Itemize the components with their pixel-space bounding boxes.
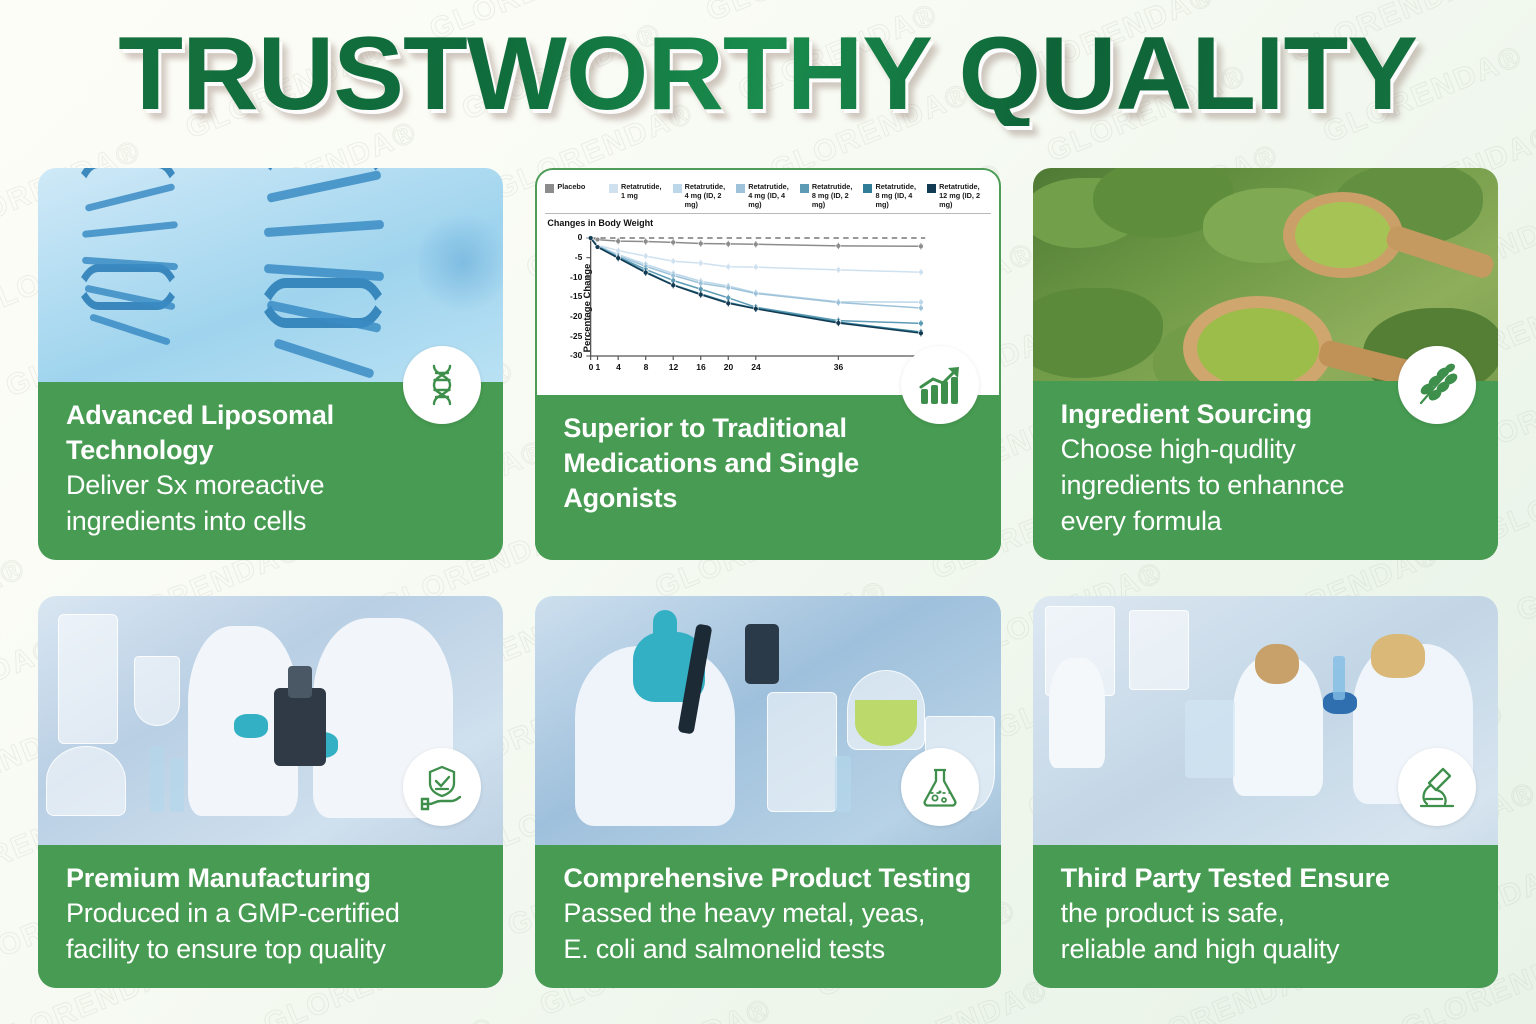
card-caption: Third Party Tested Ensure the product is… (1033, 845, 1498, 988)
chart-legend-label: Retatrutide, 8 mg (ID, 4 mg) (875, 182, 927, 209)
card-caption: Comprehensive Product Testing Passed the… (535, 845, 1000, 988)
card-body: Produced in a GMP-certified facility to … (66, 896, 479, 968)
chart-legend-swatch (545, 184, 554, 193)
watermark-text: GLORENDA® (1143, 990, 1419, 1024)
leaf-branch-icon (1413, 361, 1461, 409)
leaf-branch-icon-badge (1398, 346, 1476, 424)
chart-x-tick: 4 (610, 362, 626, 372)
chart-legend-label: Placebo (557, 182, 585, 209)
chart-legend-item: Retatrutide, 1 mg (609, 182, 673, 209)
watermark-text: GLORENDA® (0, 348, 24, 526)
chart-y-tick: -20 (560, 311, 582, 321)
feature-card-advanced-liposomal-technology[interactable]: Advanced Liposomal Technology Deliver Sx… (38, 168, 503, 560)
watermark-text: GLORENDA® (6, 986, 282, 1024)
watermark-text: GLORENDA® (1503, 474, 1536, 652)
chart-x-tick: 36 (830, 362, 846, 372)
chart-legend-item: Placebo (545, 182, 609, 209)
chart-legend-swatch (800, 184, 809, 193)
chart-y-tick: -30 (560, 350, 582, 360)
page-header: TRUSTWORTHY QUALITY (0, 22, 1536, 126)
chart-legend-item: Retatrutide, 4 mg (ID, 2 mg) (673, 182, 737, 209)
hand-shield-check-icon (418, 763, 466, 811)
card-title: Third Party Tested Ensure (1061, 861, 1474, 896)
chart-y-tick: -15 (560, 291, 582, 301)
card-title: Superior to Traditional Medications and … (563, 411, 976, 516)
flask-icon (916, 763, 964, 811)
growth-chart-icon (916, 361, 964, 409)
chart-x-tick: 1 (590, 362, 606, 372)
card-body: Deliver Sx moreactive ingredients into c… (66, 468, 479, 540)
chart-legend-swatch (609, 184, 618, 193)
microscope-icon-badge (1398, 748, 1476, 826)
feature-card-third-party-tested[interactable]: Third Party Tested Ensure the product is… (1033, 596, 1498, 988)
card-title: Premium Manufacturing (66, 861, 479, 896)
flask-icon-badge (901, 748, 979, 826)
chart-y-tick: -5 (560, 252, 582, 262)
feature-card-comprehensive-product-testing[interactable]: Comprehensive Product Testing Passed the… (535, 596, 1000, 988)
dna-icon-badge (403, 346, 481, 424)
chart-y-axis-label: Percentage Change (582, 263, 593, 352)
growth-chart-icon-badge (901, 346, 979, 424)
chart-y-tick: -25 (560, 331, 582, 341)
hand-shield-check-icon-badge (403, 748, 481, 826)
chart-legend-swatch (927, 184, 936, 193)
card-body: the product is safe, reliable and high q… (1061, 896, 1474, 968)
chart-title: Changes in Body Weight (547, 218, 994, 228)
microscope-icon (1413, 763, 1461, 811)
chart-y-tick: -10 (560, 272, 582, 282)
chart-legend-item: Retatrutide, 12 mg (ID, 2 mg) (927, 182, 991, 209)
chart-legend-item: Retatrutide, 8 mg (ID, 4 mg) (863, 182, 927, 209)
feature-card-grid: Advanced Liposomal Technology Deliver Sx… (38, 168, 1498, 988)
chart-legend-label: Retatrutide, 4 mg (ID, 4 mg) (748, 182, 800, 209)
chart-x-tick: 20 (720, 362, 736, 372)
watermark-text: GLORENDA® (867, 1009, 1143, 1024)
chart-legend-label: Retatrutide, 4 mg (ID, 2 mg) (685, 182, 737, 209)
chart-legend-swatch (863, 184, 872, 193)
card-caption: Premium Manufacturing Produced in a GMP-… (38, 845, 503, 988)
chart-x-tick: 24 (748, 362, 764, 372)
chart-legend-item: Retatrutide, 4 mg (ID, 4 mg) (736, 182, 800, 209)
watermark-text: GLORENDA® (1245, 0, 1521, 15)
card-body: Passed the heavy metal, yeas, E. coli an… (563, 896, 976, 968)
chart-x-tick: 16 (693, 362, 709, 372)
chart-legend-label: Retatrutide, 12 mg (ID, 2 mg) (939, 182, 991, 209)
chart-x-tick: 8 (638, 362, 654, 372)
chart-legend: PlaceboRetatrutide, 1 mgRetatrutide, 4 m… (545, 176, 990, 214)
feature-card-superior-to-traditional-medications[interactable]: PlaceboRetatrutide, 1 mgRetatrutide, 4 m… (535, 168, 1000, 560)
chart-legend-label: Retatrutide, 8 mg (ID, 2 mg) (812, 182, 864, 209)
chart-legend-swatch (736, 184, 745, 193)
feature-card-premium-manufacturing[interactable]: Premium Manufacturing Produced in a GMP-… (38, 596, 503, 988)
dna-icon (418, 361, 466, 409)
chart-legend-label: Retatrutide, 1 mg (621, 182, 662, 209)
chart-legend-item: Retatrutide, 8 mg (ID, 2 mg) (800, 182, 864, 209)
card-title: Comprehensive Product Testing (563, 861, 976, 896)
feature-card-ingredient-sourcing[interactable]: Ingredient Sourcing Choose high-qudlity … (1033, 168, 1498, 560)
chart-legend-swatch (673, 184, 682, 193)
page-title: TRUSTWORTHY QUALITY (119, 22, 1418, 126)
chart-x-tick: 12 (665, 362, 681, 372)
card-body: Choose high-qudlity ingredients to enhan… (1061, 432, 1474, 540)
chart-y-tick: 0 (560, 232, 582, 242)
